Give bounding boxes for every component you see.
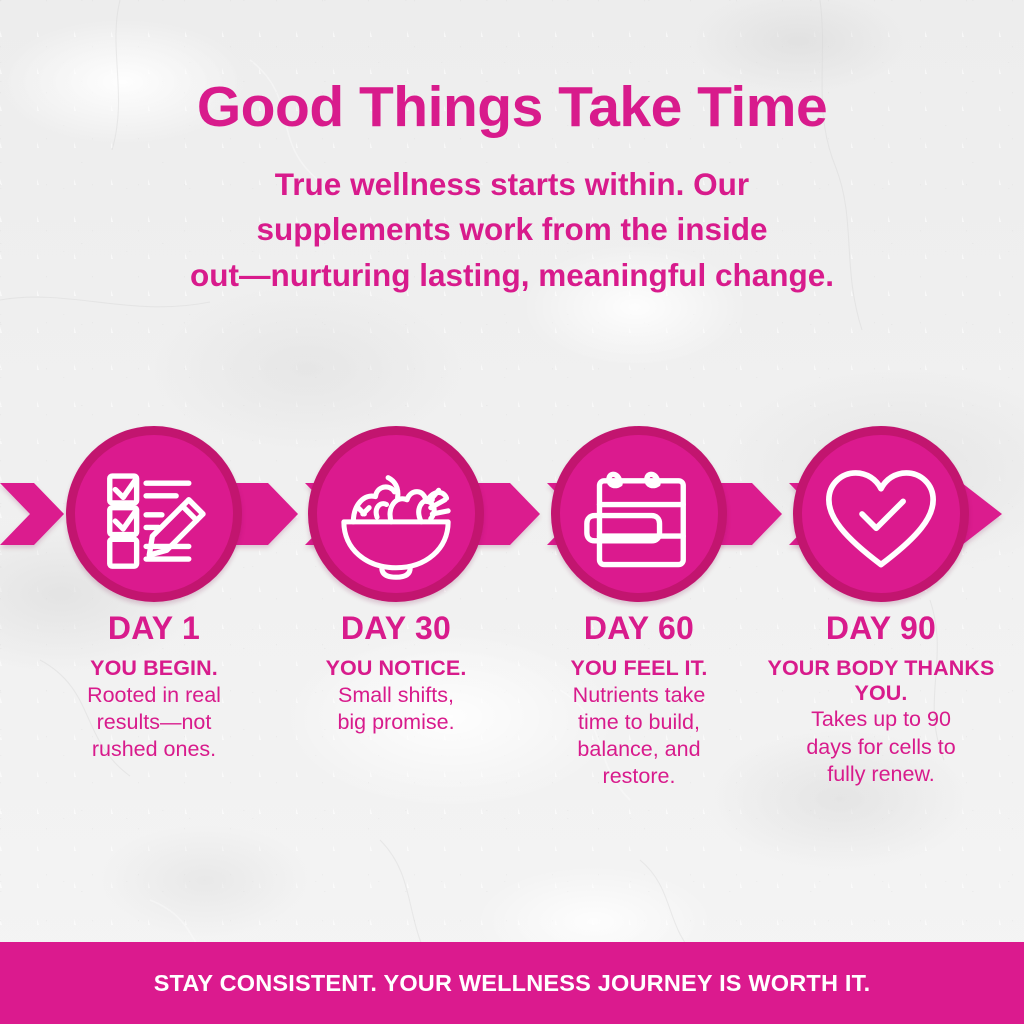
day-body-line: Rooted in real	[35, 682, 273, 708]
timeline-node-day-30[interactable]	[308, 426, 484, 602]
day-body-line: fully renew.	[762, 761, 1000, 787]
timeline-node-day-90[interactable]	[793, 426, 969, 602]
infographic-poster: Good Things Take Time True wellness star…	[0, 0, 1024, 1024]
day-label: DAY 30	[277, 612, 515, 646]
day-label: DAY 60	[520, 612, 758, 646]
timeline-section	[0, 424, 1024, 604]
day-body-line: Takes up to 90	[762, 706, 1000, 732]
page-title: Good Things Take Time	[0, 78, 1024, 136]
page-subtitle: True wellness starts within. Our supplem…	[77, 162, 947, 298]
day-label: DAY 1	[35, 612, 273, 646]
salad-bowl-icon	[317, 435, 475, 593]
day-body-line: big promise.	[277, 709, 515, 735]
timeline-captions: DAY 1 YOU BEGIN. Rooted in real results—…	[0, 612, 1024, 862]
day-headline: YOU NOTICE.	[277, 656, 515, 681]
footer-text: STAY CONSISTENT. YOUR WELLNESS JOURNEY I…	[154, 970, 871, 997]
day-body-line: restore.	[520, 763, 758, 789]
timeline-node-day-1[interactable]	[66, 426, 242, 602]
day-body-line: rushed ones.	[35, 736, 273, 762]
calendar-icon	[560, 435, 718, 593]
footer-banner: STAY CONSISTENT. YOUR WELLNESS JOURNEY I…	[0, 942, 1024, 1024]
caption-column-day-30: DAY 30 YOU NOTICE. Small shifts, big pro…	[277, 612, 515, 735]
day-body-line: days for cells to	[762, 734, 1000, 760]
timeline-node-day-60[interactable]	[551, 426, 727, 602]
subtitle-line-2: supplements work from the inside	[77, 207, 947, 252]
day-headline: YOUR BODY THANKS YOU.	[762, 656, 1000, 706]
day-body-line: Small shifts,	[277, 682, 515, 708]
day-body-line: Nutrients take	[520, 682, 758, 708]
heart-check-icon	[802, 435, 960, 593]
day-body-line: balance, and	[520, 736, 758, 762]
day-body-line: time to build,	[520, 709, 758, 735]
checklist-pencil-icon	[75, 435, 233, 593]
day-body-line: results—not	[35, 709, 273, 735]
caption-column-day-90: DAY 90 YOUR BODY THANKS YOU. Takes up to…	[762, 612, 1000, 787]
subtitle-line-3: out—nurturing lasting, meaningful change…	[77, 253, 947, 298]
day-headline: YOU BEGIN.	[35, 656, 273, 681]
caption-column-day-1: DAY 1 YOU BEGIN. Rooted in real results—…	[35, 612, 273, 762]
day-label: DAY 90	[762, 612, 1000, 646]
timeline-nodes	[0, 424, 1024, 604]
subtitle-line-1: True wellness starts within. Our	[77, 162, 947, 207]
day-headline: YOU FEEL IT.	[520, 656, 758, 681]
caption-column-day-60: DAY 60 YOU FEEL IT. Nutrients take time …	[520, 612, 758, 789]
header-block: Good Things Take Time True wellness star…	[0, 78, 1024, 298]
